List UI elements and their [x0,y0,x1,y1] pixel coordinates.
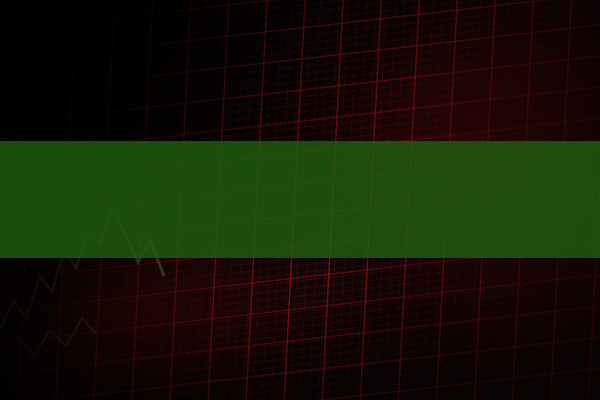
stock-chart-banner-image [0,0,600,400]
title-banner [0,141,600,258]
